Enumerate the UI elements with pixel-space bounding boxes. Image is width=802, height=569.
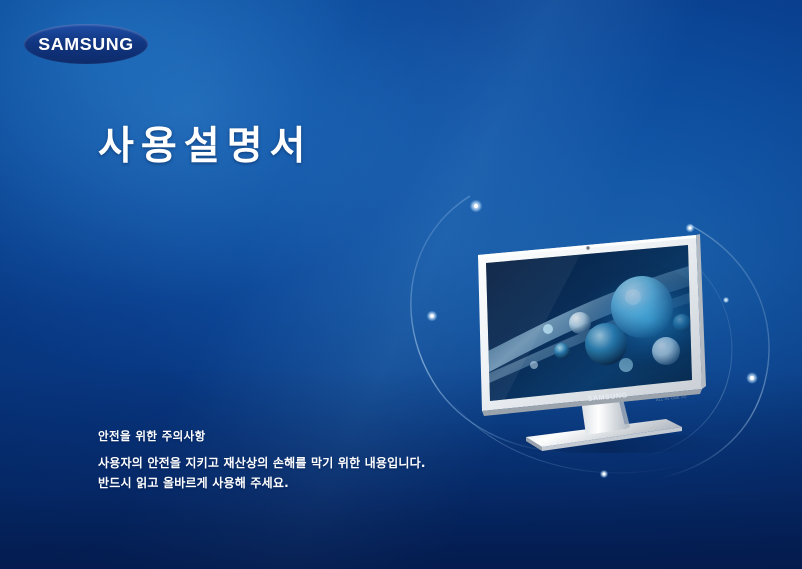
safety-caption-heading: 안전을 위한 주의사항 — [98, 428, 426, 444]
safety-caption-line-1: 사용자의 안전을 지키고 재산상의 손해를 막기 위한 내용입니다. — [98, 453, 426, 473]
safety-caption-line-2: 반드시 읽고 올바르게 사용해 주세요. — [98, 473, 426, 493]
safety-caption-block: 안전을 위한 주의사항 사용자의 안전을 지키고 재산상의 손해를 막기 위한 … — [98, 428, 426, 493]
webcam-icon — [586, 246, 589, 249]
page-title: 사용설명서 — [98, 115, 312, 171]
cover-page: SAMSUNG 사용설명서 — [0, 0, 802, 569]
monitor-screen — [480, 245, 708, 401]
samsung-logo-text: SAMSUNG — [23, 24, 149, 64]
product-image-all-in-one-pc: SAMSUNG ALL-IN-ONE PC — [430, 205, 790, 465]
samsung-logo: SAMSUNG — [24, 24, 148, 64]
